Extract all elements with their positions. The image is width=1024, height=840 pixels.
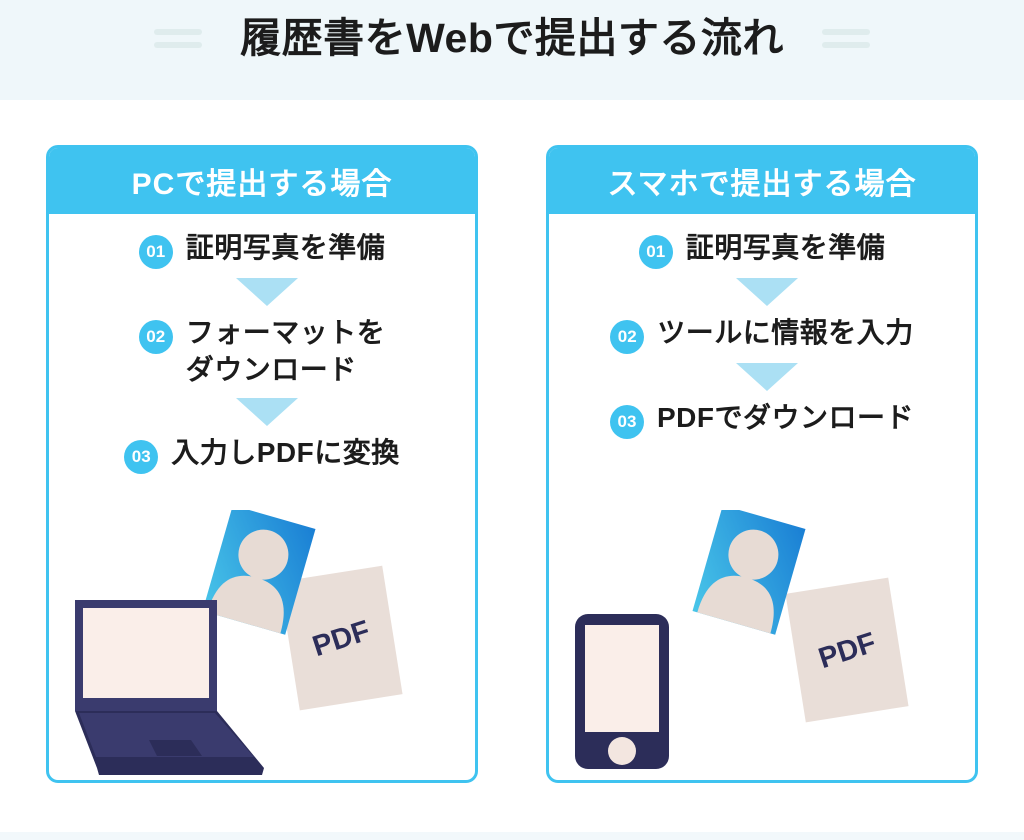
- step-label: ツールに情報を入力: [657, 315, 914, 352]
- arrow-down-icon: [236, 398, 298, 426]
- id-photo-icon: [693, 510, 806, 635]
- illustration-smartphone: PDF: [549, 510, 975, 780]
- step-label-line: フォーマットを: [186, 317, 386, 348]
- step-label: 入力しPDFに変換: [171, 435, 400, 472]
- page-title: 履歴書をWebで提出する流れ: [240, 18, 784, 59]
- step-badge: 03: [124, 440, 158, 474]
- card-smartphone: スマホで提出する場合 01 証明写真を準備 02 ツールに情報を入力 03 PD…: [546, 145, 978, 783]
- flow-cards-container: PCで提出する場合 01 証明写真を準備 02 フォーマットを ダウンロード: [0, 145, 1024, 783]
- arrow-down-icon: [736, 278, 798, 306]
- page-title-row: 履歴書をWebで提出する流れ: [0, 0, 1024, 76]
- card-pc-steps: 01 証明写真を準備 02 フォーマットを ダウンロード 03 入力しPDFに変…: [49, 230, 475, 474]
- pdf-document-icon: PDF: [785, 578, 908, 723]
- arrow-down-icon: [736, 363, 798, 391]
- step-badge: 01: [139, 235, 173, 269]
- step-badge: 03: [610, 405, 644, 439]
- smartphone-icon: [575, 614, 669, 769]
- step-label: 証明写真を準備: [186, 230, 386, 267]
- illustration-pc: PDF: [49, 510, 475, 780]
- step-item: 03 PDFでダウンロード: [610, 400, 914, 439]
- step-label: フォーマットを ダウンロード: [186, 315, 386, 389]
- card-smartphone-header: スマホで提出する場合: [549, 148, 975, 214]
- card-pc: PCで提出する場合 01 証明写真を準備 02 フォーマットを ダウンロード: [46, 145, 478, 783]
- step-badge: 02: [610, 320, 644, 354]
- step-label: 証明写真を準備: [686, 230, 886, 267]
- laptop-icon: [75, 600, 264, 775]
- card-smartphone-steps: 01 証明写真を準備 02 ツールに情報を入力 03 PDFでダウンロード: [549, 230, 975, 439]
- step-badge: 01: [639, 235, 673, 269]
- step-item: 01 証明写真を準備: [139, 230, 386, 269]
- decoration-left-icon: [154, 29, 202, 48]
- arrow-down-icon: [236, 278, 298, 306]
- step-label-line: ダウンロード: [186, 354, 357, 385]
- step-item: 02 フォーマットを ダウンロード: [139, 315, 386, 389]
- card-pc-body: 01 証明写真を準備 02 フォーマットを ダウンロード 03 入力しPDFに変…: [49, 214, 475, 780]
- step-label: PDFでダウンロード: [657, 400, 914, 437]
- bottom-band: [0, 832, 1024, 840]
- step-item: 02 ツールに情報を入力: [610, 315, 914, 354]
- step-item: 03 入力しPDFに変換: [124, 435, 400, 474]
- step-item: 01 証明写真を準備: [639, 230, 886, 269]
- decoration-right-icon: [822, 29, 870, 48]
- card-smartphone-body: 01 証明写真を準備 02 ツールに情報を入力 03 PDFでダウンロード: [549, 214, 975, 780]
- step-badge: 02: [139, 320, 173, 354]
- card-pc-header: PCで提出する場合: [49, 148, 475, 214]
